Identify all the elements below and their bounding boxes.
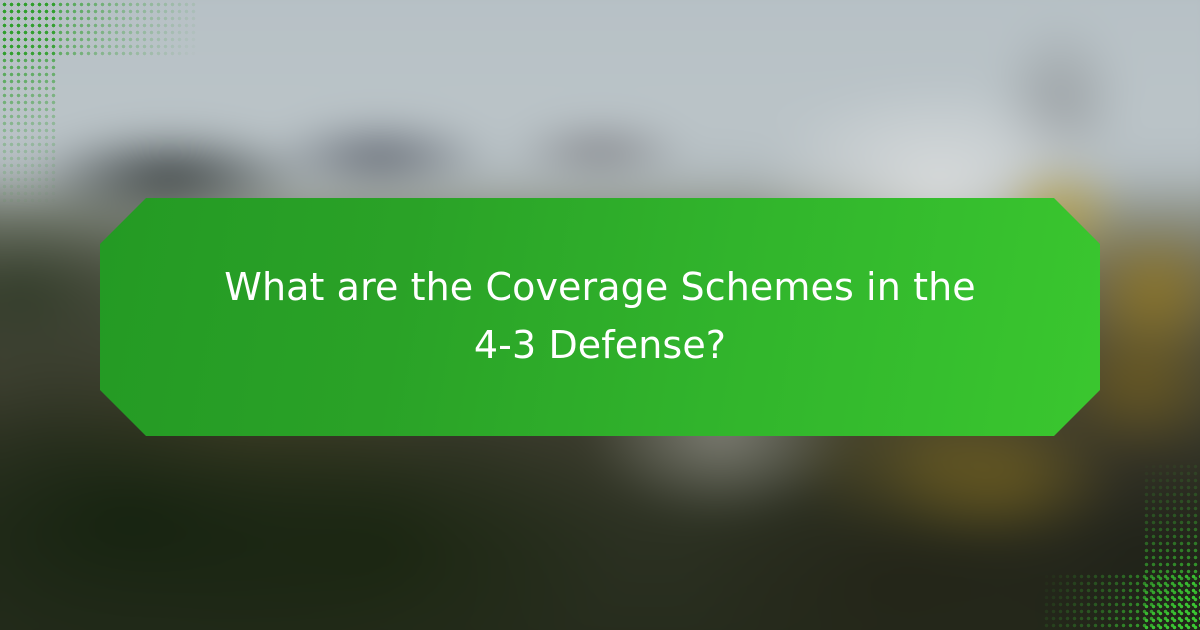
social-card-canvas: What are the Coverage Schemes in the 4-3…	[0, 0, 1200, 630]
title-banner: What are the Coverage Schemes in the 4-3…	[100, 198, 1100, 436]
page-title: What are the Coverage Schemes in the 4-3…	[220, 259, 980, 375]
